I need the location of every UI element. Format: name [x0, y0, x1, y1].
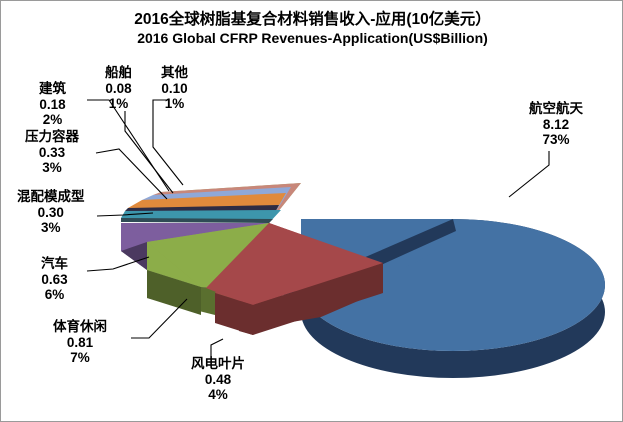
label-sports-leisure: 体育休闲 0.81 7%: [53, 319, 107, 366]
label-wind-blade: 风电叶片 0.48 4%: [191, 356, 245, 403]
label-pressure-vessel-name: 压力容器: [25, 129, 79, 145]
label-aerospace-percent: 73%: [529, 132, 583, 148]
leader-wind-blade: [211, 339, 223, 357]
label-marine-percent: 1%: [105, 96, 132, 112]
label-compounding-name: 混配模成型: [17, 189, 85, 205]
label-pressure-vessel-percent: 3%: [25, 160, 79, 176]
label-construction-value: 0.18: [39, 97, 66, 113]
leader-pressure-vessel: [96, 149, 167, 199]
label-compounding-percent: 3%: [17, 220, 85, 236]
label-automotive-percent: 6%: [41, 287, 68, 303]
label-wind-blade-value: 0.48: [191, 372, 245, 388]
label-other-percent: 1%: [161, 96, 188, 112]
label-aerospace-value: 8.12: [529, 117, 583, 133]
label-marine: 船舶 0.08 1%: [105, 65, 132, 112]
label-construction: 建筑 0.18 2%: [39, 81, 66, 128]
label-automotive-value: 0.63: [41, 272, 68, 288]
pie-chart-figure: 2016全球树脂基复合材料销售收入-应用(10亿美元） 2016 Global …: [0, 0, 623, 422]
leader-aerospace: [509, 151, 549, 197]
label-construction-name: 建筑: [39, 81, 66, 97]
label-sports-leisure-name: 体育休闲: [53, 319, 107, 335]
label-aerospace-name: 航空航天: [529, 101, 583, 117]
leader-construction: [87, 100, 169, 191]
label-other-value: 0.10: [161, 81, 188, 97]
label-pressure-vessel-value: 0.33: [25, 145, 79, 161]
label-other: 其他 0.10 1%: [161, 65, 188, 112]
label-marine-name: 船舶: [105, 65, 132, 81]
label-compounding: 混配模成型 0.30 3%: [17, 189, 85, 236]
label-pressure-vessel: 压力容器 0.33 3%: [25, 129, 79, 176]
label-automotive-name: 汽车: [41, 256, 68, 272]
label-wind-blade-name: 风电叶片: [191, 356, 245, 372]
label-marine-value: 0.08: [105, 81, 132, 97]
label-sports-leisure-percent: 7%: [53, 350, 107, 366]
label-construction-percent: 2%: [39, 112, 66, 128]
label-aerospace: 航空航天 8.12 73%: [529, 101, 583, 148]
label-automotive: 汽车 0.63 6%: [41, 256, 68, 303]
label-other-name: 其他: [161, 65, 188, 81]
label-wind-blade-percent: 4%: [191, 387, 245, 403]
label-sports-leisure-value: 0.81: [53, 335, 107, 351]
label-compounding-value: 0.30: [17, 205, 85, 221]
